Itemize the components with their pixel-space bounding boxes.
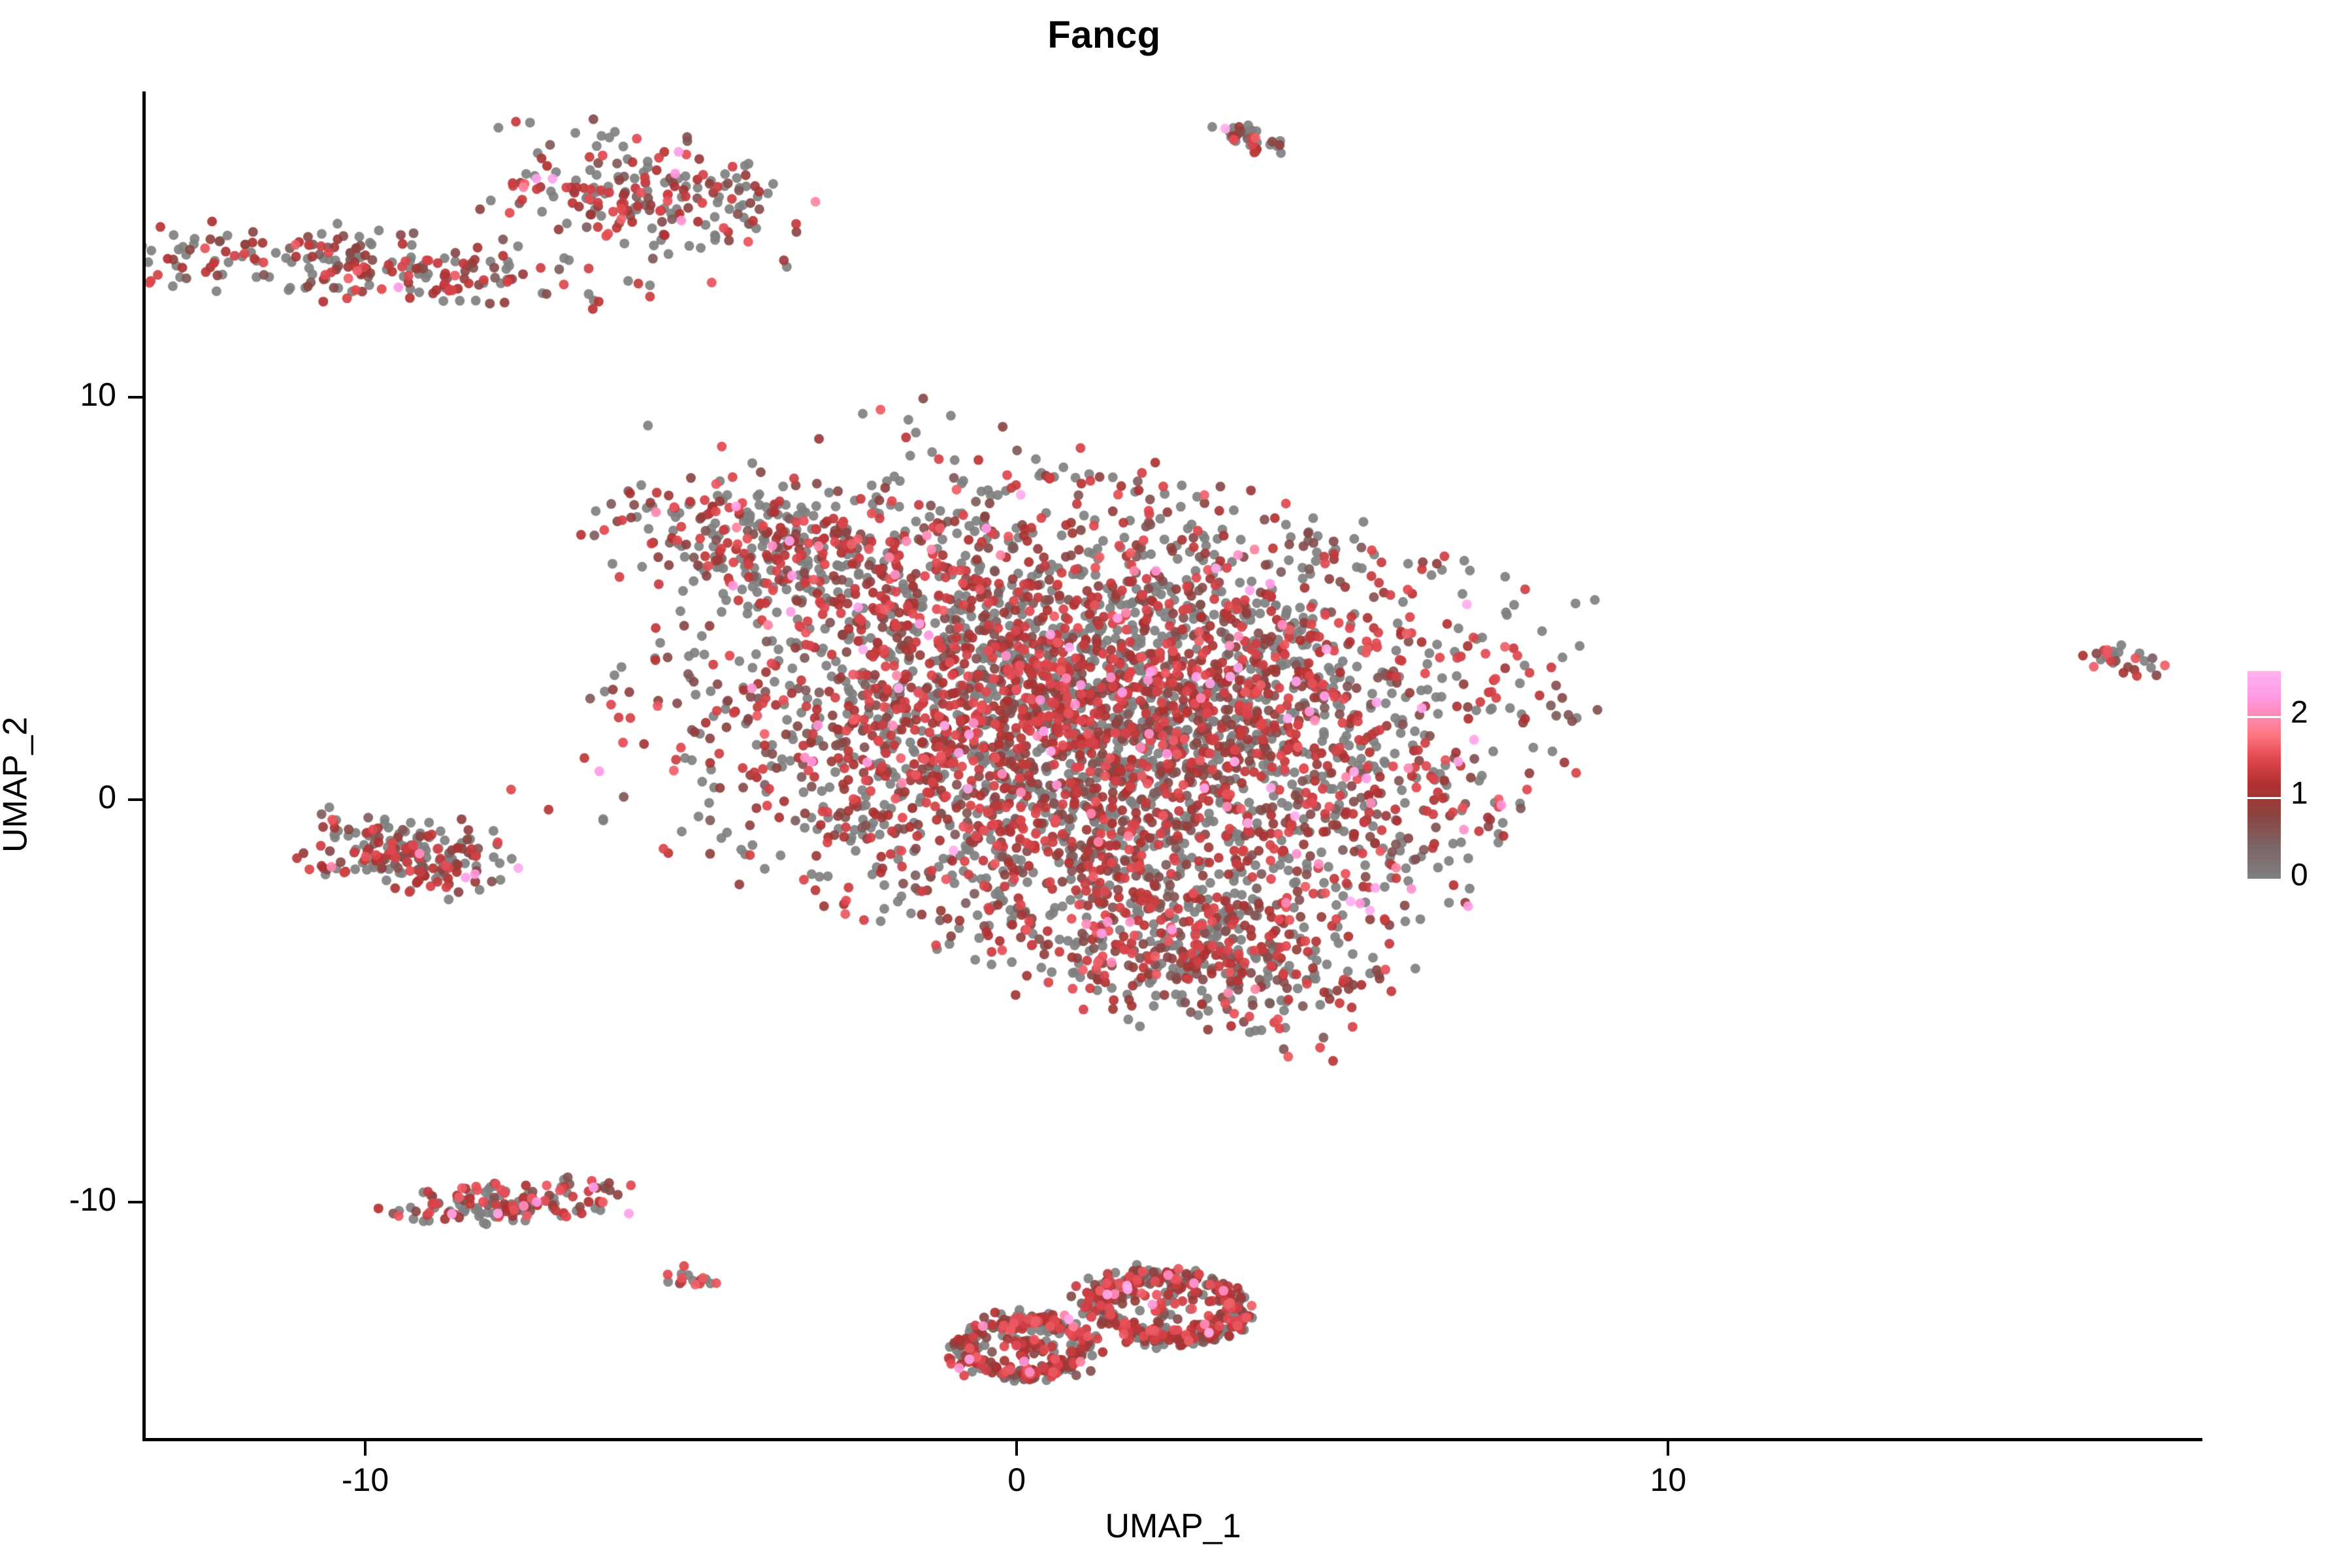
y-tick-mark [128,798,142,801]
x-tick-mark [364,1441,367,1456]
y-tick-mark [128,1201,142,1203]
colorbar-tick-label: 2 [2291,694,2308,730]
x-tick-label: -10 [293,1461,437,1499]
y-axis-line [142,91,146,1441]
y-axis-title: UMAP_2 [0,111,35,1459]
x-tick-label: 10 [1596,1461,1740,1499]
x-tick-mark [1667,1441,1669,1456]
colorbar-tick-mark [2247,797,2281,799]
colorbar-tick-label: 1 [2291,776,2308,811]
x-tick-mark [1015,1441,1018,1456]
colorbar-legend: 210 [2247,671,2352,900]
colorbar-tick-label: 0 [2291,857,2308,893]
page-title: Fancg [0,13,2208,57]
umap-feature-plot: Fancg -10010 100-10 UMAP_1 UMAP_2 210 [0,0,2352,1568]
plot-panel [144,91,2202,1439]
colorbar-gradient [2247,671,2281,879]
y-tick-mark [128,396,142,399]
x-axis-title: UMAP_1 [144,1507,2202,1546]
x-axis-line [142,1438,2202,1441]
scatter-points-layer [144,91,2202,1439]
x-tick-label: 0 [945,1461,1088,1499]
colorbar-tick-mark [2247,716,2281,718]
